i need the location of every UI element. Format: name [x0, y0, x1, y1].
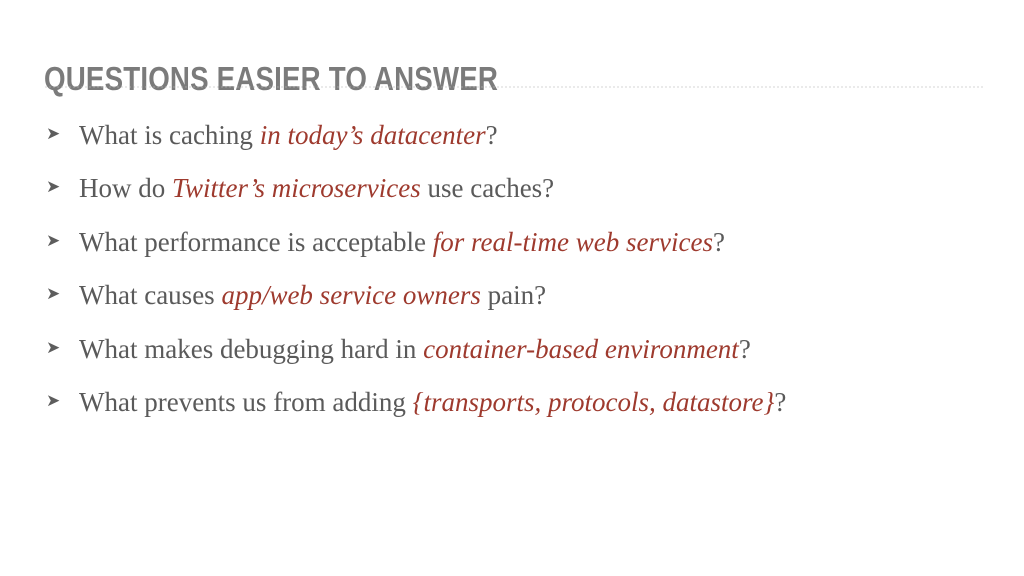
emphasis-phrase: container-based environment — [423, 334, 739, 364]
list-item-text: What prevents us from adding {transports… — [79, 385, 786, 419]
plain-phrase: What prevents us from adding — [79, 387, 413, 417]
plain-phrase: What causes — [79, 280, 221, 310]
emphasis-phrase: app/web service owners — [221, 280, 480, 310]
list-item-text: What makes debugging hard in container-b… — [79, 332, 751, 366]
plain-phrase: ? — [713, 227, 725, 257]
arrow-bullet-icon: ➤ — [46, 126, 60, 143]
emphasis-phrase: for real-time web services — [433, 227, 713, 257]
list-item-text: What is caching in today’s datacenter? — [79, 118, 498, 152]
list-item-text: How do Twitter’s microservices use cache… — [79, 171, 554, 205]
title-separator-rule — [44, 86, 985, 88]
arrow-bullet-icon: ➤ — [46, 286, 60, 303]
page-title: QUESTIONS EASIER TO ANSWER — [44, 60, 498, 98]
list-item: ➤What is caching in today’s datacenter? — [44, 108, 994, 162]
plain-phrase: pain? — [481, 280, 546, 310]
plain-phrase: What performance is acceptable — [79, 227, 433, 257]
plain-phrase: What is caching — [79, 120, 260, 150]
emphasis-phrase: {transports, protocols, datastore} — [413, 387, 775, 417]
list-item: ➤What causes app/web service owners pain… — [44, 269, 994, 323]
plain-phrase: use caches? — [421, 173, 554, 203]
list-item: ➤How do Twitter’s microservices use cach… — [44, 162, 994, 216]
list-item-text: What performance is acceptable for real-… — [79, 225, 725, 259]
list-item: ➤What makes debugging hard in container-… — [44, 322, 994, 376]
arrow-bullet-icon: ➤ — [46, 393, 60, 410]
slide-canvas: QUESTIONS EASIER TO ANSWER ➤What is cach… — [0, 0, 1024, 576]
list-item: ➤What performance is acceptable for real… — [44, 215, 994, 269]
list-item-text: What causes app/web service owners pain? — [79, 278, 546, 312]
list-item: ➤What prevents us from adding {transport… — [44, 376, 994, 430]
plain-phrase: ? — [774, 387, 786, 417]
plain-phrase: How do — [79, 173, 172, 203]
arrow-bullet-icon: ➤ — [46, 340, 60, 357]
plain-phrase: What makes debugging hard in — [79, 334, 423, 364]
emphasis-phrase: Twitter’s microservices — [172, 173, 421, 203]
plain-phrase: ? — [486, 120, 498, 150]
question-list: ➤What is caching in today’s datacenter?➤… — [44, 108, 994, 429]
arrow-bullet-icon: ➤ — [46, 233, 60, 250]
plain-phrase: ? — [739, 334, 751, 364]
emphasis-phrase: in today’s datacenter — [260, 120, 486, 150]
arrow-bullet-icon: ➤ — [46, 179, 60, 196]
